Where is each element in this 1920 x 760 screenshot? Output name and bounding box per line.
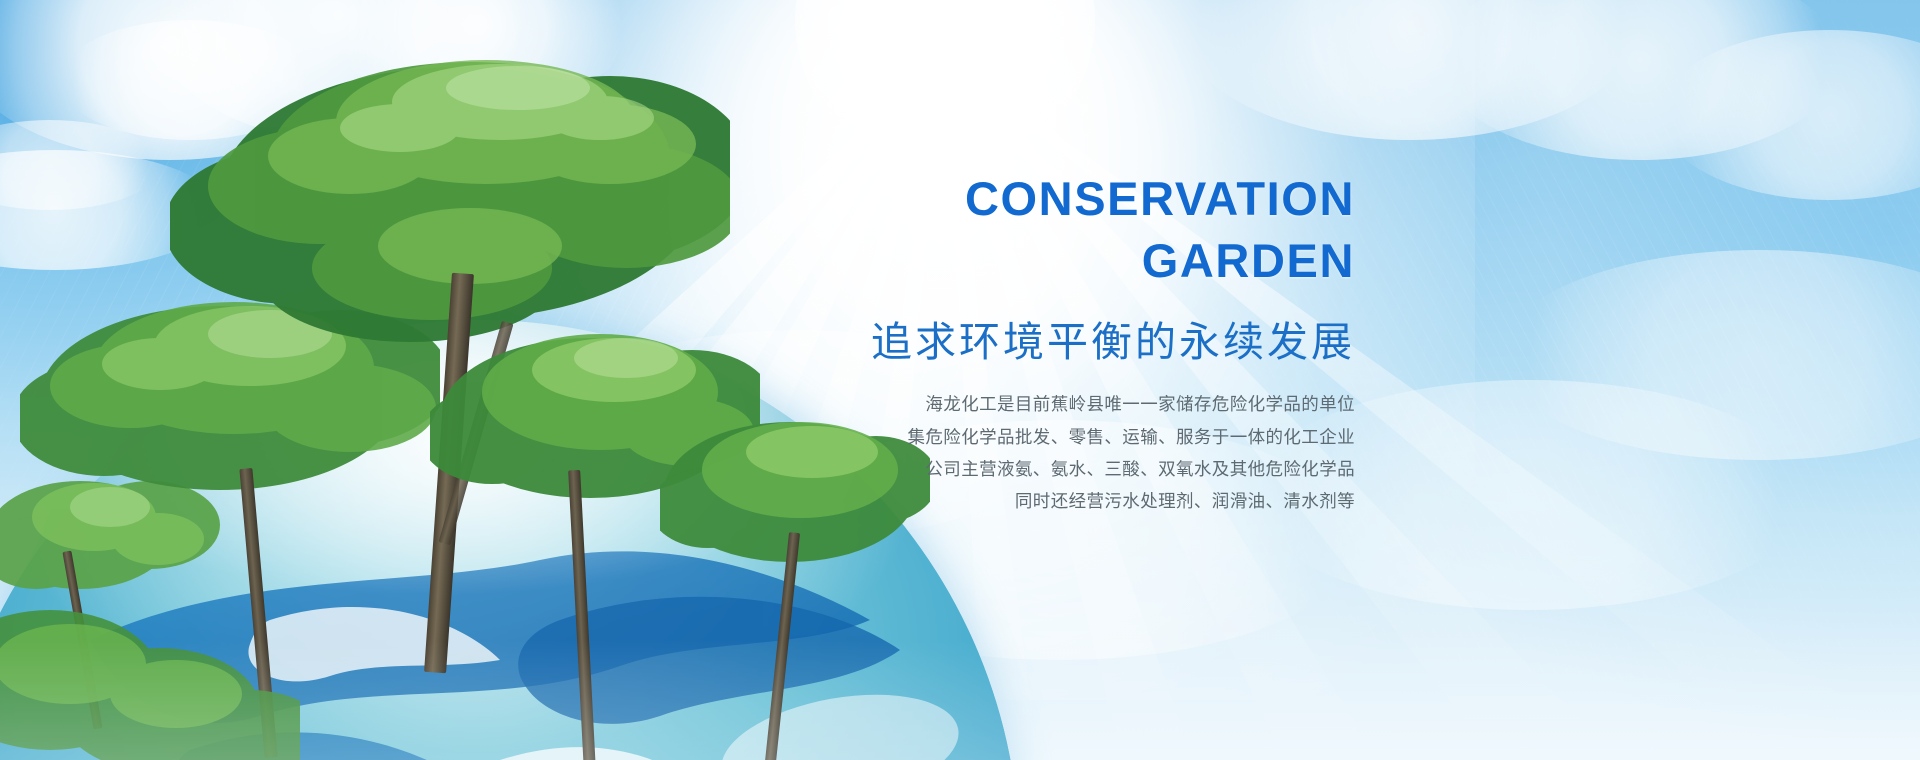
title-line-1: CONSERVATION — [965, 172, 1355, 225]
banner-title-en: CONSERVATION GARDEN — [795, 168, 1355, 292]
title-line-2: GARDEN — [795, 230, 1355, 292]
description-line-3: 公司主营液氨、氨水、三酸、双氧水及其他危险化学品 — [795, 454, 1355, 486]
banner-subtitle-cn: 追求环境平衡的永续发展 — [795, 316, 1355, 369]
foliage — [0, 560, 300, 760]
description-line-4: 同时还经营污水处理剂、润滑油、清水剂等 — [795, 486, 1355, 518]
shrub-bottom-left — [0, 560, 300, 760]
hero-banner: CONSERVATION GARDEN 追求环境平衡的永续发展 海龙化工是目前蕉… — [0, 0, 1920, 760]
description-line-2: 集危险化学品批发、零售、运输、服务于一体的化工企业 — [795, 422, 1355, 454]
banner-copy: CONSERVATION GARDEN 追求环境平衡的永续发展 海龙化工是目前蕉… — [795, 168, 1355, 518]
description-line-1: 海龙化工是目前蕉岭县唯一一家储存危险化学品的单位 — [795, 389, 1355, 421]
banner-description: 海龙化工是目前蕉岭县唯一一家储存危险化学品的单位 集危险化学品批发、零售、运输、… — [795, 389, 1355, 518]
